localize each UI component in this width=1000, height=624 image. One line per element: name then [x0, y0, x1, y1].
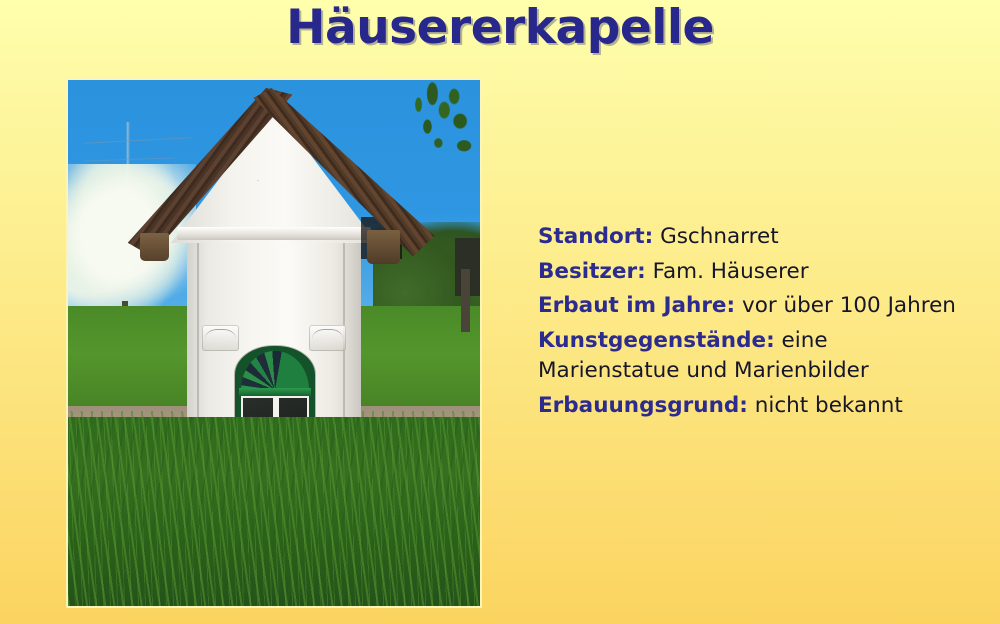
chapel-photo-canvas — [68, 80, 480, 606]
info-row-besitzer: Besitzer: Fam. Häuserer — [538, 257, 964, 288]
info-label-standort: Standort: — [538, 224, 653, 249]
chapel-photo — [66, 78, 482, 608]
page-title: Häusererkapelle — [0, 2, 1000, 55]
eave-block-left — [140, 233, 169, 262]
info-row-erbaut-im-jahre: Erbaut im Jahre: vor über 100 Jahren — [538, 291, 964, 322]
chapel-cornice — [177, 227, 371, 240]
info-label-kunstgegenstaende: Kunstgegenstände: — [538, 328, 775, 353]
fence-post — [461, 269, 469, 332]
stucco-capital-right — [309, 325, 346, 351]
foreground-grass — [68, 417, 480, 606]
info-row-standort: Standort: Gschnarret — [538, 222, 964, 253]
info-row-kunstgegenstaende: Kunstgegenstände: eine Marienstatue und … — [538, 326, 964, 387]
slide-canvas: Häusererkapelle — [0, 0, 1000, 624]
info-value-standort: Gschnarret — [660, 224, 779, 249]
info-value-erbaut-im-jahre: vor über 100 Jahren — [742, 293, 956, 318]
info-list: Standort: Gschnarret Besitzer: Fam. Häus… — [538, 222, 964, 425]
info-label-erbauungsgrund: Erbauungsgrund: — [538, 393, 748, 418]
info-row-erbauungsgrund: Erbauungsgrund: nicht bekannt — [538, 391, 964, 422]
eave-block-right — [367, 230, 400, 264]
info-value-erbauungsgrund: nicht bekannt — [755, 393, 903, 418]
stucco-capital-left — [202, 325, 239, 351]
info-label-erbaut-im-jahre: Erbaut im Jahre: — [538, 293, 735, 318]
info-label-besitzer: Besitzer: — [538, 259, 646, 284]
info-value-besitzer: Fam. Häuserer — [653, 259, 809, 284]
